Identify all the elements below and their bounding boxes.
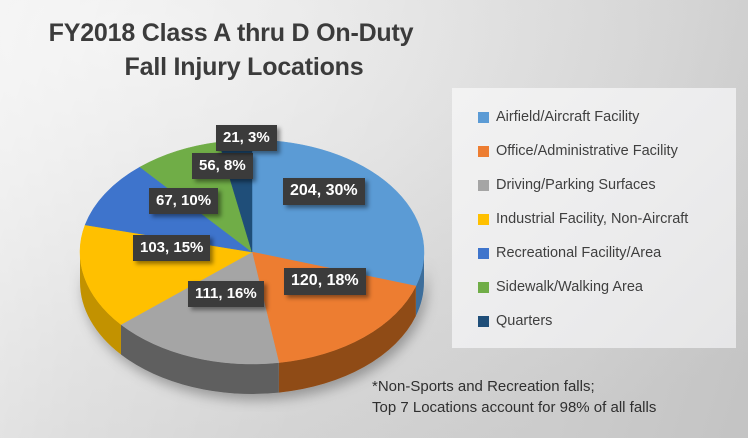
legend-item[interactable]: Recreational Facility/Area — [452, 236, 736, 270]
data-label-office: 120, 18% — [284, 268, 366, 295]
legend-item-label: Industrial Facility, Non-Aircraft — [496, 211, 688, 227]
legend-item-label: Recreational Facility/Area — [496, 245, 661, 261]
legend-swatch-icon — [478, 112, 489, 123]
legend-item-label: Driving/Parking Surfaces — [496, 177, 656, 193]
legend-swatch-icon — [478, 146, 489, 157]
data-label-sidewalk: 56, 8% — [192, 153, 253, 179]
footnote-line-1: *Non-Sports and Recreation falls; — [372, 376, 656, 397]
legend-swatch-icon — [478, 316, 489, 327]
data-label-recreational: 67, 10% — [149, 188, 218, 214]
legend-item-label: Sidewalk/Walking Area — [496, 279, 643, 295]
data-label-driving: 111, 16% — [188, 281, 264, 307]
data-label-airfield: 204, 30% — [283, 178, 365, 205]
legend-item-label: Quarters — [496, 313, 552, 329]
chart-legend: Airfield/Aircraft FacilityOffice/Adminis… — [452, 88, 736, 348]
legend-swatch-icon — [478, 248, 489, 259]
footnote: *Non-Sports and Recreation falls; Top 7 … — [372, 376, 656, 418]
title-line-2: Fall Injury Locations — [0, 50, 462, 84]
legend-item-label: Airfield/Aircraft Facility — [496, 109, 639, 125]
legend-item[interactable]: Industrial Facility, Non-Aircraft — [452, 202, 736, 236]
legend-item[interactable]: Driving/Parking Surfaces — [452, 168, 736, 202]
page-title: FY2018 Class A thru D On-Duty Fall Injur… — [0, 16, 462, 84]
legend-item[interactable]: Office/Administrative Facility — [452, 134, 736, 168]
data-label-industrial: 103, 15% — [133, 235, 210, 261]
footnote-line-2: Top 7 Locations account for 98% of all f… — [372, 397, 656, 418]
legend-swatch-icon — [478, 214, 489, 225]
legend-swatch-icon — [478, 282, 489, 293]
data-label-quarters: 21, 3% — [216, 125, 277, 151]
legend-swatch-icon — [478, 180, 489, 191]
legend-item-label: Office/Administrative Facility — [496, 143, 678, 159]
legend-item[interactable]: Sidewalk/Walking Area — [452, 270, 736, 304]
title-line-1: FY2018 Class A thru D On-Duty — [0, 16, 462, 50]
legend-item[interactable]: Quarters — [452, 304, 736, 338]
slide-canvas: FY2018 Class A thru D On-Duty Fall Injur… — [0, 0, 748, 438]
legend-item[interactable]: Airfield/Aircraft Facility — [452, 100, 736, 134]
